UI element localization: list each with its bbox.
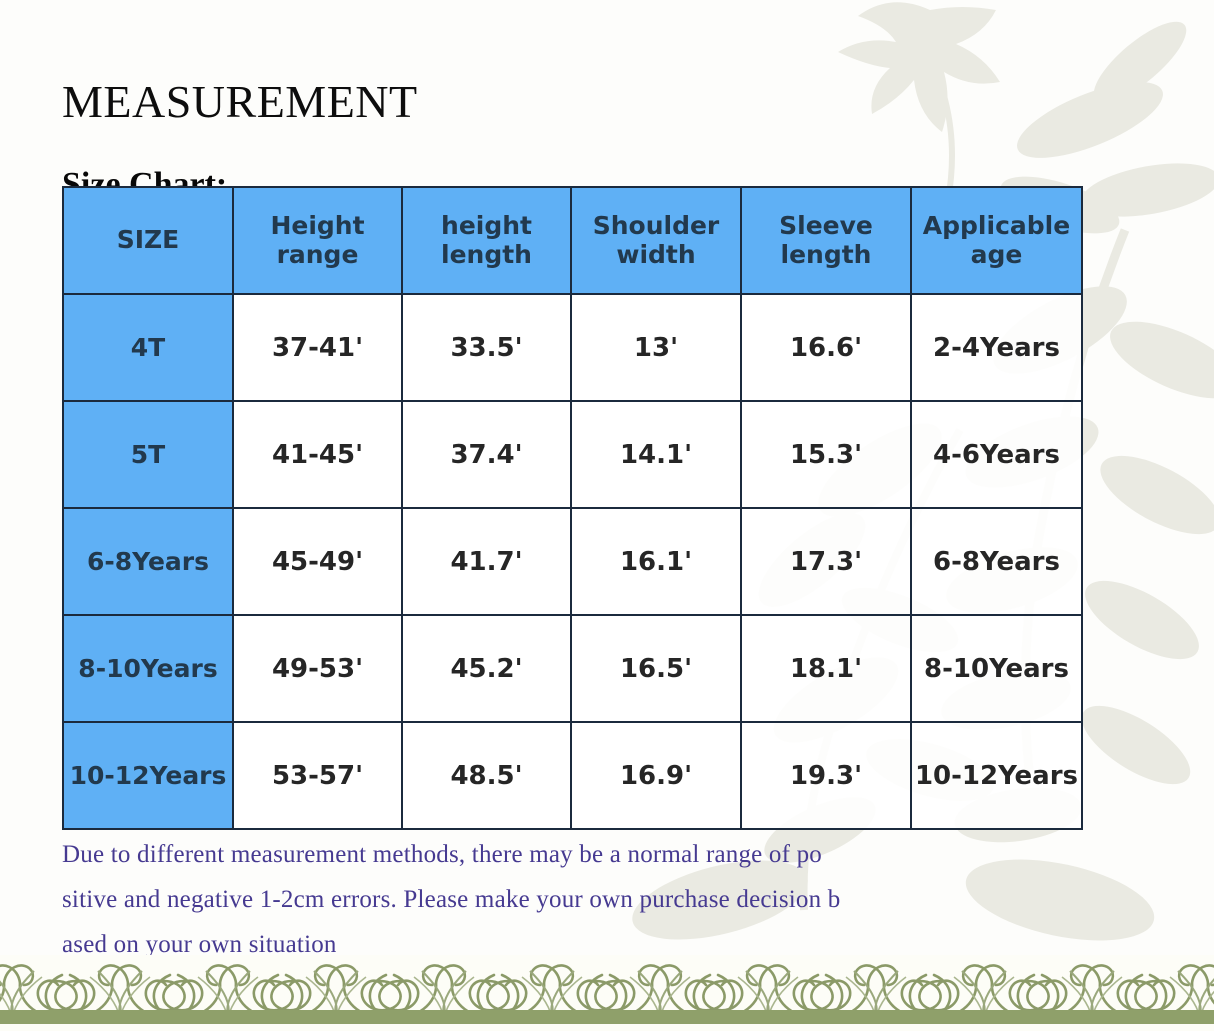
cell-size: 5T [63, 401, 233, 508]
header-line: Height [270, 211, 364, 240]
cell-shoulder-width: 16.9' [571, 722, 741, 829]
header-line: range [277, 240, 359, 269]
header-line: length [441, 240, 532, 269]
cell-applicable-age: 4-6Years [911, 401, 1082, 508]
cell-sleeve-length: 19.3' [741, 722, 911, 829]
cell-size: 8-10Years [63, 615, 233, 722]
header-line: SIZE [117, 225, 180, 254]
cell-height-range: 53-57' [233, 722, 402, 829]
column-header-height-range: Height range [233, 187, 402, 294]
cell-applicable-age: 8-10Years [911, 615, 1082, 722]
table-row: 8-10Years 49-53' 45.2' 16.5' 18.1' 8-10Y… [63, 615, 1082, 722]
cell-sleeve-length: 16.6' [741, 294, 911, 401]
disclaimer-text: Due to different measurement methods, th… [62, 832, 1022, 967]
page-title: MEASUREMENT [62, 79, 418, 125]
table-row: 6-8Years 45-49' 41.7' 16.1' 17.3' 6-8Yea… [63, 508, 1082, 615]
table-row: 5T 41-45' 37.4' 14.1' 15.3' 4-6Years [63, 401, 1082, 508]
cell-height-length: 45.2' [402, 615, 571, 722]
cell-sleeve-length: 17.3' [741, 508, 911, 615]
cell-height-length: 41.7' [402, 508, 571, 615]
cell-applicable-age: 2-4Years [911, 294, 1082, 401]
size-chart-table: SIZE Height range height length Shoulder… [62, 186, 1083, 830]
cell-size: 4T [63, 294, 233, 401]
disclaimer-line: ased on your own situation [62, 922, 1022, 967]
cell-height-length: 37.4' [402, 401, 571, 508]
cell-size: 6-8Years [63, 508, 233, 615]
cell-shoulder-width: 13' [571, 294, 741, 401]
header-line: Applicable [923, 211, 1070, 240]
cell-sleeve-length: 18.1' [741, 615, 911, 722]
table-header-row: SIZE Height range height length Shoulder… [63, 187, 1082, 294]
column-header-size: SIZE [63, 187, 233, 294]
header-line: Sleeve [779, 211, 873, 240]
cell-height-length: 48.5' [402, 722, 571, 829]
cell-applicable-age: 10-12Years [911, 722, 1082, 829]
cell-height-range: 37-41' [233, 294, 402, 401]
header-line: height [441, 211, 532, 240]
disclaimer-line: Due to different measurement methods, th… [62, 832, 1022, 877]
cell-sleeve-length: 15.3' [741, 401, 911, 508]
cell-shoulder-width: 14.1' [571, 401, 741, 508]
disclaimer-line: sitive and negative 1-2cm errors. Please… [62, 877, 1022, 922]
column-header-height-length: height length [402, 187, 571, 294]
column-header-applicable-age: Applicable age [911, 187, 1082, 294]
column-header-sleeve-length: Sleeve length [741, 187, 911, 294]
column-header-shoulder-width: Shoulder width [571, 187, 741, 294]
cell-height-length: 33.5' [402, 294, 571, 401]
cell-shoulder-width: 16.1' [571, 508, 741, 615]
table-row: 10-12Years 53-57' 48.5' 16.9' 19.3' 10-1… [63, 722, 1082, 829]
cell-height-range: 45-49' [233, 508, 402, 615]
header-line: age [971, 240, 1023, 269]
cell-height-range: 41-45' [233, 401, 402, 508]
cell-shoulder-width: 16.5' [571, 615, 741, 722]
size-chart-page: MEASUREMENT Size Chart: SIZE Height rang… [0, 0, 1214, 1031]
header-line: length [781, 240, 872, 269]
cell-height-range: 49-53' [233, 615, 402, 722]
table-row: 4T 37-41' 33.5' 13' 16.6' 2-4Years [63, 294, 1082, 401]
header-line: width [616, 240, 695, 269]
cell-applicable-age: 6-8Years [911, 508, 1082, 615]
cell-size: 10-12Years [63, 722, 233, 829]
header-line: Shoulder [593, 211, 720, 240]
